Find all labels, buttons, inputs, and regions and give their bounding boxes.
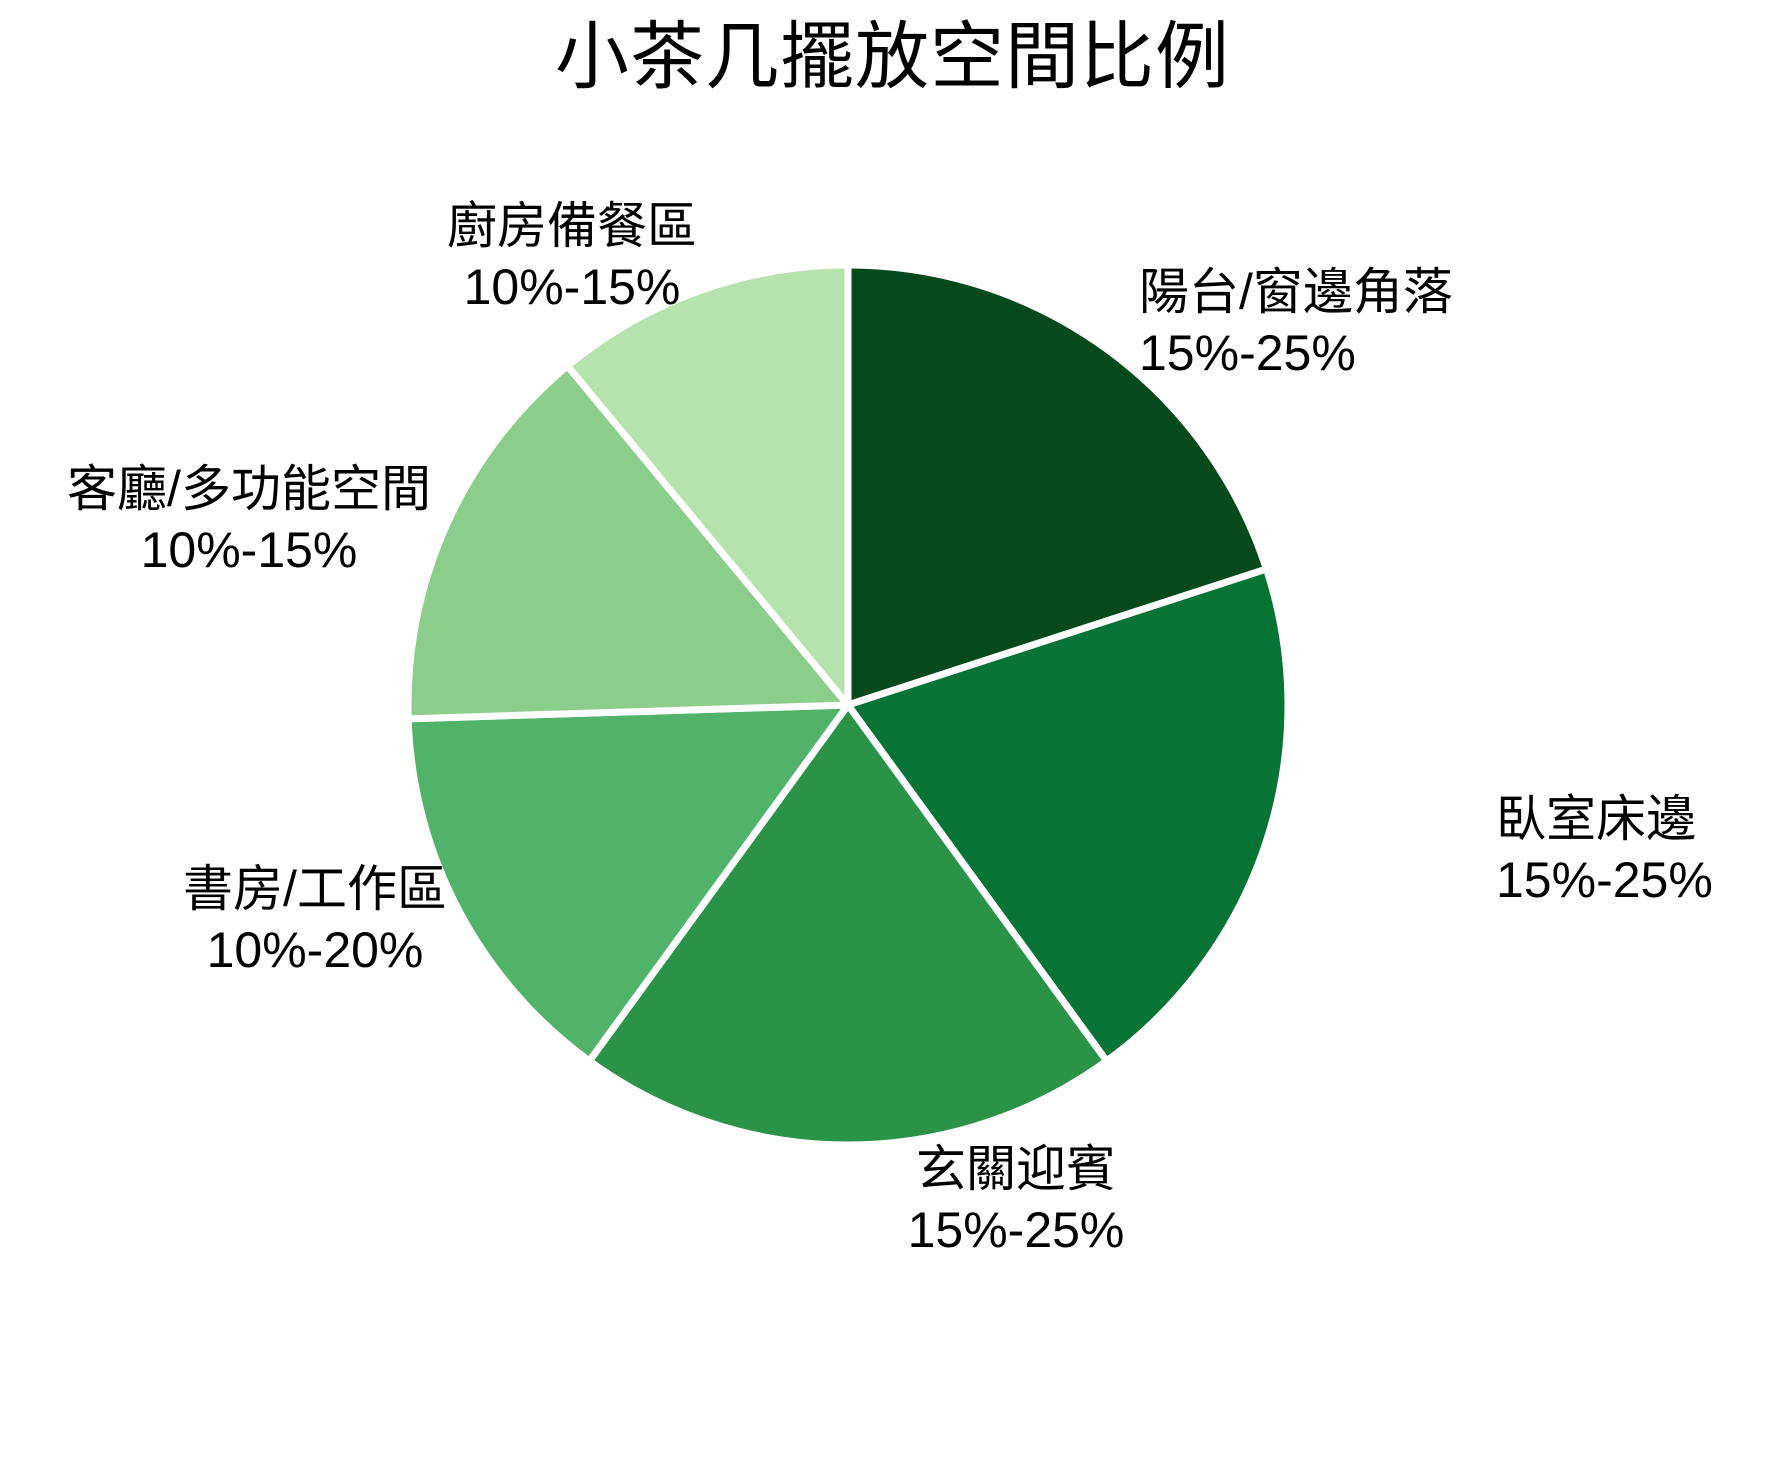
- pie-label-study-workspace: 書房/工作區 10%-20%: [147, 859, 483, 981]
- pie-label-name: 臥室床邊: [1496, 789, 1713, 850]
- pie-label-living-multifunction: 客廳/多功能空間 10%-15%: [8, 459, 490, 581]
- pie-chart-figure: 陽台/窗邊角落 15%-25% 臥室床邊 15%-25% 玄關迎賓 15%-25…: [0, 0, 1785, 1468]
- pie-slice-group: [408, 265, 1288, 1145]
- pie-label-name: 客廳/多功能空間: [8, 459, 490, 520]
- pie-chart-page: 小茶几擺放空間比例 陽台/窗邊角落 15%-25% 臥室床邊 15%-25% 玄…: [0, 0, 1785, 1468]
- pie-label-name: 玄關迎賓: [861, 1139, 1171, 1200]
- pie-label-value: 15%-25%: [1139, 323, 1453, 384]
- pie-label-value: 10%-20%: [147, 920, 483, 981]
- pie-label-name: 陽台/窗邊角落: [1139, 262, 1453, 323]
- pie-label-bedside: 臥室床邊 15%-25%: [1496, 789, 1713, 911]
- pie-label-name: 廚房備餐區: [404, 196, 740, 257]
- pie-label-value: 10%-15%: [8, 520, 490, 581]
- pie-label-kitchen-prep: 廚房備餐區 10%-15%: [404, 196, 740, 318]
- pie-label-entryway: 玄關迎賓 15%-25%: [861, 1139, 1171, 1261]
- pie-label-value: 15%-25%: [861, 1200, 1171, 1261]
- pie-label-balcony-window-corner: 陽台/窗邊角落 15%-25%: [1139, 262, 1453, 384]
- pie-label-name: 書房/工作區: [147, 859, 483, 920]
- pie-label-value: 10%-15%: [404, 257, 740, 318]
- pie-label-value: 15%-25%: [1496, 850, 1713, 911]
